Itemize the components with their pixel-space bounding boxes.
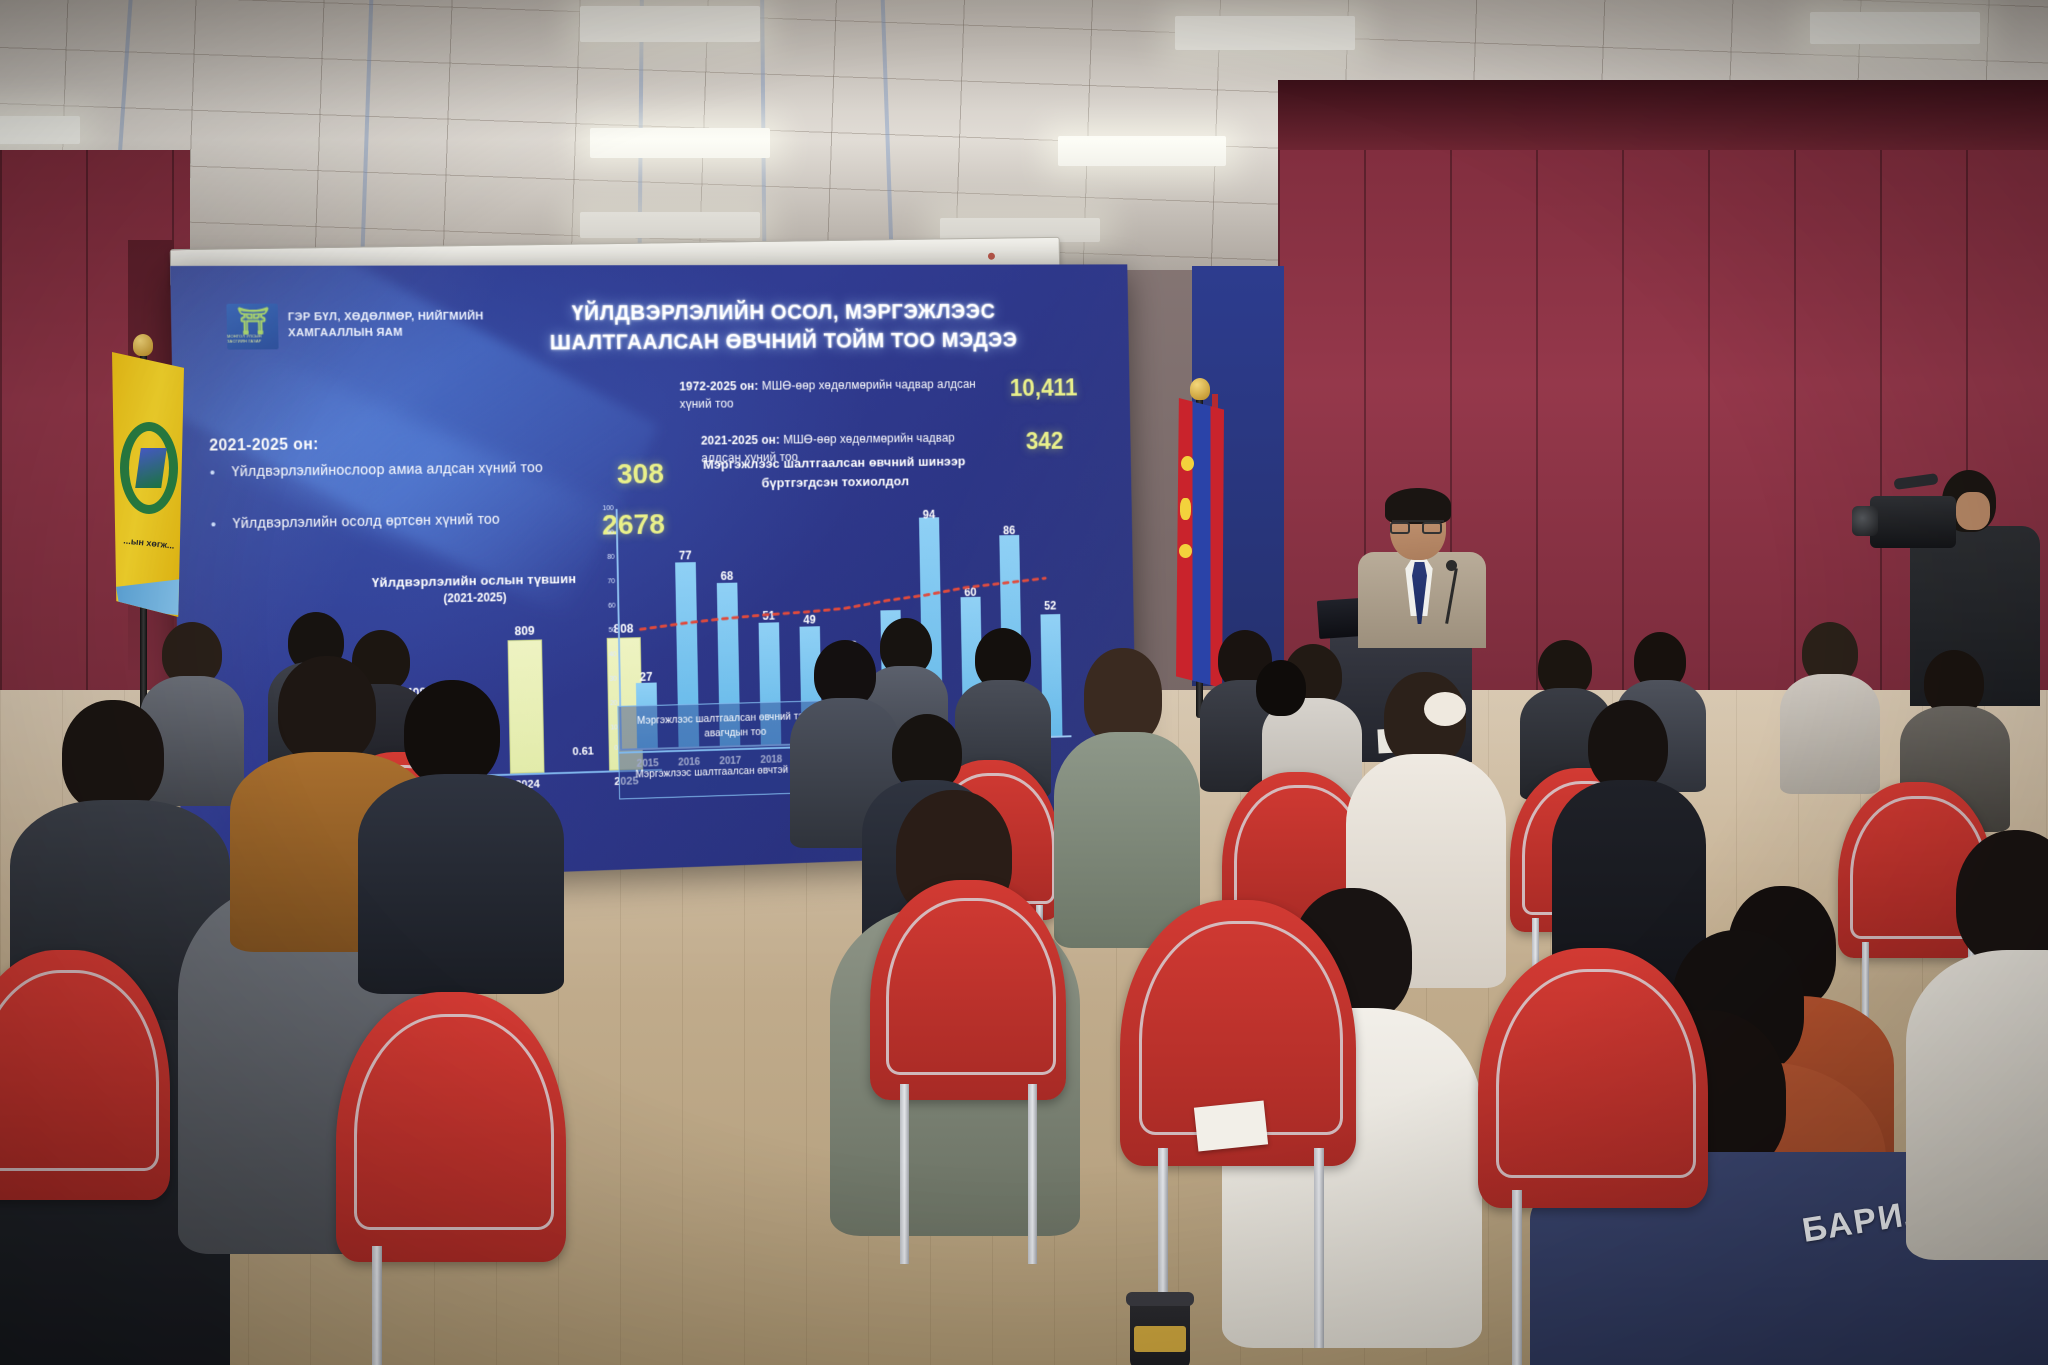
paper-on-seat [1194,1100,1268,1151]
ministry-name-line1: ГЭР БҮЛ, ХӨДӨЛМӨР, НИЙГМИЙН [288,310,484,326]
flag-finial-right [1190,378,1210,400]
slide-title-line1: ҮЙЛДВЭРЛЭЛИЙН ОСОЛ, МЭРГЭЖЛЭЭС [465,297,1097,328]
camera-microphone-icon [1893,473,1938,490]
bar-value-label: 49 [790,613,829,627]
bar-value-label: 27 [626,670,666,685]
stat-label: Үйлдвэрлэлийн осолд өртсөн хүний тоо [232,510,555,535]
y-tick-label: 40 [596,651,617,658]
chart-title: Мэргэжлээс шалтгаалсан өвчний шинээр бүр… [616,451,1050,495]
y-tick-label: 10 [597,724,618,731]
bar-value-label: 68 [707,569,746,583]
y-tick-label: 30 [596,676,617,683]
bar-value-label: 94 [910,508,949,522]
logo-glyph: ⛩ [236,310,268,332]
stat-label: Үйлдвэрлэлийнослоор амиа алдсан хүний то… [231,459,554,483]
bar-value-label: 809 [496,624,554,639]
torso [1906,950,2048,1260]
bullet-icon: • [211,515,225,535]
chair[interactable] [870,880,1066,1100]
bar-value-label: 77 [665,548,705,562]
bar-value-label: 52 [1031,599,1069,613]
flag-caption: ...ын хөгж... [114,534,185,551]
bar-value-label [871,597,909,598]
y-tick-label: 20 [596,700,617,707]
y-tick-label: 90 [593,530,614,537]
soyombo-icon [1181,456,1194,471]
torso [1780,674,1880,794]
audience-member [1780,622,1880,782]
slide-title-line2: ШАЛТГААЛСАН ӨВЧНИЙ ТОЙМ ТОО МЭДЭЭ [465,325,1097,358]
stat-row: 1972-2025 он: МШӨ-өөр хөдөлмөрийн чадвар… [679,374,1101,413]
logo-emblem-icon: ⛩ МОНГОЛ УЛСЫН ЗАСГИЙН ГАЗАР [226,304,278,350]
microphone-icon [1446,560,1457,571]
ministry-logo: ⛩ МОНГОЛ УЛСЫН ЗАСГИЙН ГАЗАР ГЭР БҮЛ, ХӨ… [226,303,484,350]
y-tick-label: 60 [595,603,616,610]
coffee-cup[interactable] [1130,1300,1190,1365]
torso [358,774,564,994]
cup-lid [1126,1292,1194,1306]
head [1084,648,1162,744]
y-tick-label: 0 [597,745,618,752]
flag-finial-left [133,334,153,356]
presenter [1352,494,1492,644]
glasses-icon [1392,520,1444,532]
cup-label [1134,1326,1186,1352]
presenter-hair [1385,488,1451,524]
soyombo-icon [1180,498,1191,520]
bullet-icon: • [210,463,224,483]
chair[interactable] [336,992,566,1262]
chair-leg [1512,1190,1522,1365]
chair-leg [1314,1148,1324,1348]
chair-leg [900,1084,909,1264]
stat-period: 2021-2025 он: [701,433,780,447]
chair-leg [1028,1084,1037,1264]
bar-value-label: 51 [749,609,788,623]
soyombo-icon [1179,544,1192,558]
logo-emblem-caption: МОНГОЛ УЛСЫН ЗАСГИЙН ГАЗАР [227,333,279,343]
audience-member [1920,830,2048,1250]
ministry-name-line2: ХАМГААЛЛЫН ЯАМ [288,325,484,341]
head [62,700,164,812]
stat-period: 1972-2025 он: [679,379,758,393]
left-stats-heading: 2021-2025 он: [209,432,663,455]
camera-lens-icon [1852,506,1878,536]
slide-title: ҮЙЛДВЭРЛЭЛИЙН ОСОЛ, МЭРГЭЖЛЭЭС ШАЛТГААЛС… [465,297,1097,358]
video-camera-icon [1870,496,1956,548]
y-tick-label: 80 [594,554,615,561]
head [278,656,376,764]
videographer-face [1956,492,1990,530]
chair-leg [372,1246,382,1365]
head [1588,700,1668,792]
audience-member [366,680,556,980]
presentation-hall-photo: ⛩ МОНГОЛ УЛСЫН ЗАСГИЙН ГАЗАР ГЭР БҮЛ, ХӨ… [0,0,2048,1365]
y-tick-label: 100 [593,505,614,512]
head [1256,660,1306,716]
wall-top-band [1278,80,2048,150]
stat-value: 10,411 [986,374,1102,403]
chair[interactable] [1478,948,1708,1208]
bar-value-label: 60 [951,585,989,599]
hair-accessory [1424,692,1466,726]
housing-indicator [988,253,995,260]
head [1956,830,2048,966]
y-tick-label: 70 [594,578,615,585]
bar-value-label: 86 [990,523,1028,537]
stat-label: 1972-2025 он: МШӨ-өөр хөдөлмөрийн чадвар… [679,375,986,413]
head [404,680,500,786]
ministry-name: ГЭР БҮЛ, ХӨДӨЛМӨР, НИЙГМИЙН ХАМГААЛЛЫН Я… [288,310,484,342]
organization-flag: ...ын хөгж... [112,352,184,617]
audience-member [1060,648,1190,948]
y-tick-label: 50 [595,627,616,634]
